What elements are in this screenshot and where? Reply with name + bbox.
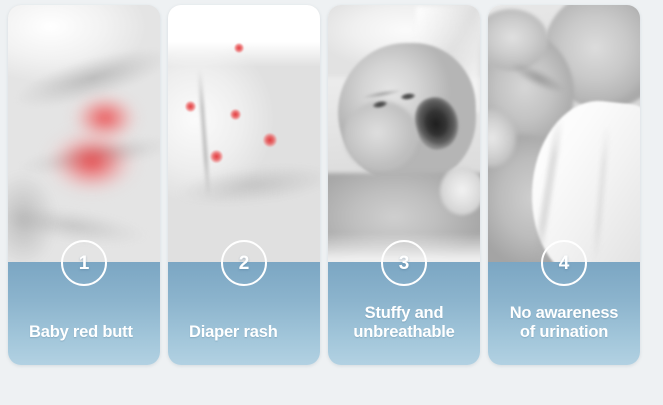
card-3-number: 3 <box>399 254 410 273</box>
baby-cheek-shape <box>344 101 418 171</box>
card-4-photo <box>488 5 640 277</box>
card-4-caption: No awareness of urination <box>488 304 640 342</box>
symptom-card-row: Baby red butt 1 Diaper rash <box>0 0 663 405</box>
rash-dot <box>263 133 277 147</box>
card-2-number: 2 <box>239 254 250 273</box>
rash-dot <box>234 43 244 53</box>
card-1-number-badge: 1 <box>61 240 107 286</box>
card-1-caption: Baby red butt <box>8 323 160 342</box>
symptom-card-1[interactable]: Baby red butt 1 <box>8 5 160 365</box>
symptom-card-3[interactable]: Stuffy and unbreathable 3 <box>328 5 480 365</box>
card-3-photo <box>328 5 480 277</box>
card-2-number-badge: 2 <box>221 240 267 286</box>
rash-dot <box>210 150 223 163</box>
photo-highlight <box>168 5 320 67</box>
card-4-number-badge: 4 <box>541 240 587 286</box>
rash-dot <box>185 101 196 112</box>
card-2-caption: Diaper rash <box>168 323 320 342</box>
card-2-photo <box>168 5 320 277</box>
red-blotch-lower <box>42 125 146 201</box>
baby-hand-shape <box>440 167 480 215</box>
card-1-number: 1 <box>79 254 90 273</box>
rash-dot <box>230 109 241 120</box>
symptom-card-4[interactable]: No awareness of urination 4 <box>488 5 640 365</box>
card-3-caption: Stuffy and unbreathable <box>328 304 480 342</box>
card-3-number-badge: 3 <box>381 240 427 286</box>
infographic-stage: Baby red butt 1 Diaper rash <box>0 0 663 405</box>
card-1-photo <box>8 5 160 277</box>
card-4-number: 4 <box>559 254 570 273</box>
symptom-card-2[interactable]: Diaper rash 2 <box>168 5 320 365</box>
